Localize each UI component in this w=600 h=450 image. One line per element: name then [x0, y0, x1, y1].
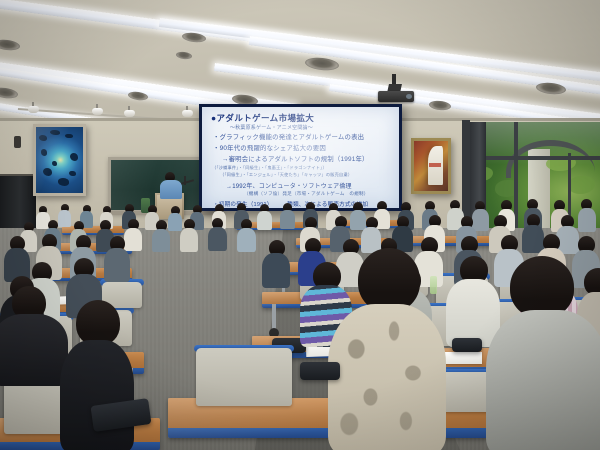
chair — [196, 348, 292, 406]
audience-member — [257, 204, 272, 229]
audience-member — [0, 286, 68, 382]
slide-line: ・グラフィック機能の発達とアダルトゲームの表出 — [213, 132, 364, 141]
audience-member — [104, 236, 130, 280]
audience-member-foreground — [486, 256, 600, 450]
ceiling-projector-icon — [378, 74, 414, 104]
water-bottle — [430, 276, 437, 294]
audience-member — [180, 219, 198, 250]
presenter — [160, 172, 182, 198]
floor-bag — [452, 338, 482, 352]
projection-screen: ●アダルトゲーム市場拡大 ～秋葉原系ゲーム・アニメ空間論～ ・グラフィック機能の… — [199, 104, 402, 211]
audience-member-foreground — [328, 248, 446, 450]
wall-speaker — [14, 136, 21, 148]
slide-title: ●アダルトゲーム市場拡大 — [211, 112, 314, 124]
audience-member — [262, 240, 290, 286]
slide-line: ・90年代の飛躍的なシェア拡大の要因 — [213, 143, 326, 152]
audience-member — [237, 219, 256, 251]
audience-member — [578, 199, 596, 231]
slide-line: →審明会によるアダルトソフトの規制（1991年） — [222, 154, 369, 163]
audience-member — [152, 220, 170, 250]
painting-left — [33, 124, 86, 196]
slide-line: （「同級生」・「エンジェル」・「天使たち」「キャッツ」の販売自粛） — [220, 172, 352, 178]
floor-bag — [300, 362, 340, 380]
slide-line: ～秋葉原系ゲーム・アニメ空間論～ — [230, 124, 313, 131]
painting-right — [411, 138, 451, 194]
slide-line: →1992年、コンピュータ・ソフトウェア倫理 — [226, 181, 352, 190]
slide-content: ●アダルトゲーム市場拡大 ～秋葉原系ゲーム・アニメ空間論～ ・グラフィック機能の… — [202, 107, 399, 208]
audience-member — [208, 218, 227, 250]
slide-line: （機構（ソフ倫）発足（市場・アダルトゲーム の規制） — [244, 191, 369, 197]
slide-line: （「沙織事件」・「同級生」・「鬼畜王」・「ドラゴンナイト」） — [212, 165, 327, 171]
audience-member — [280, 203, 295, 228]
lecture-hall-photo: ●アダルトゲーム市場拡大 ～秋葉原系ゲーム・アニメ空間論～ ・グラフィック機能の… — [0, 0, 600, 450]
